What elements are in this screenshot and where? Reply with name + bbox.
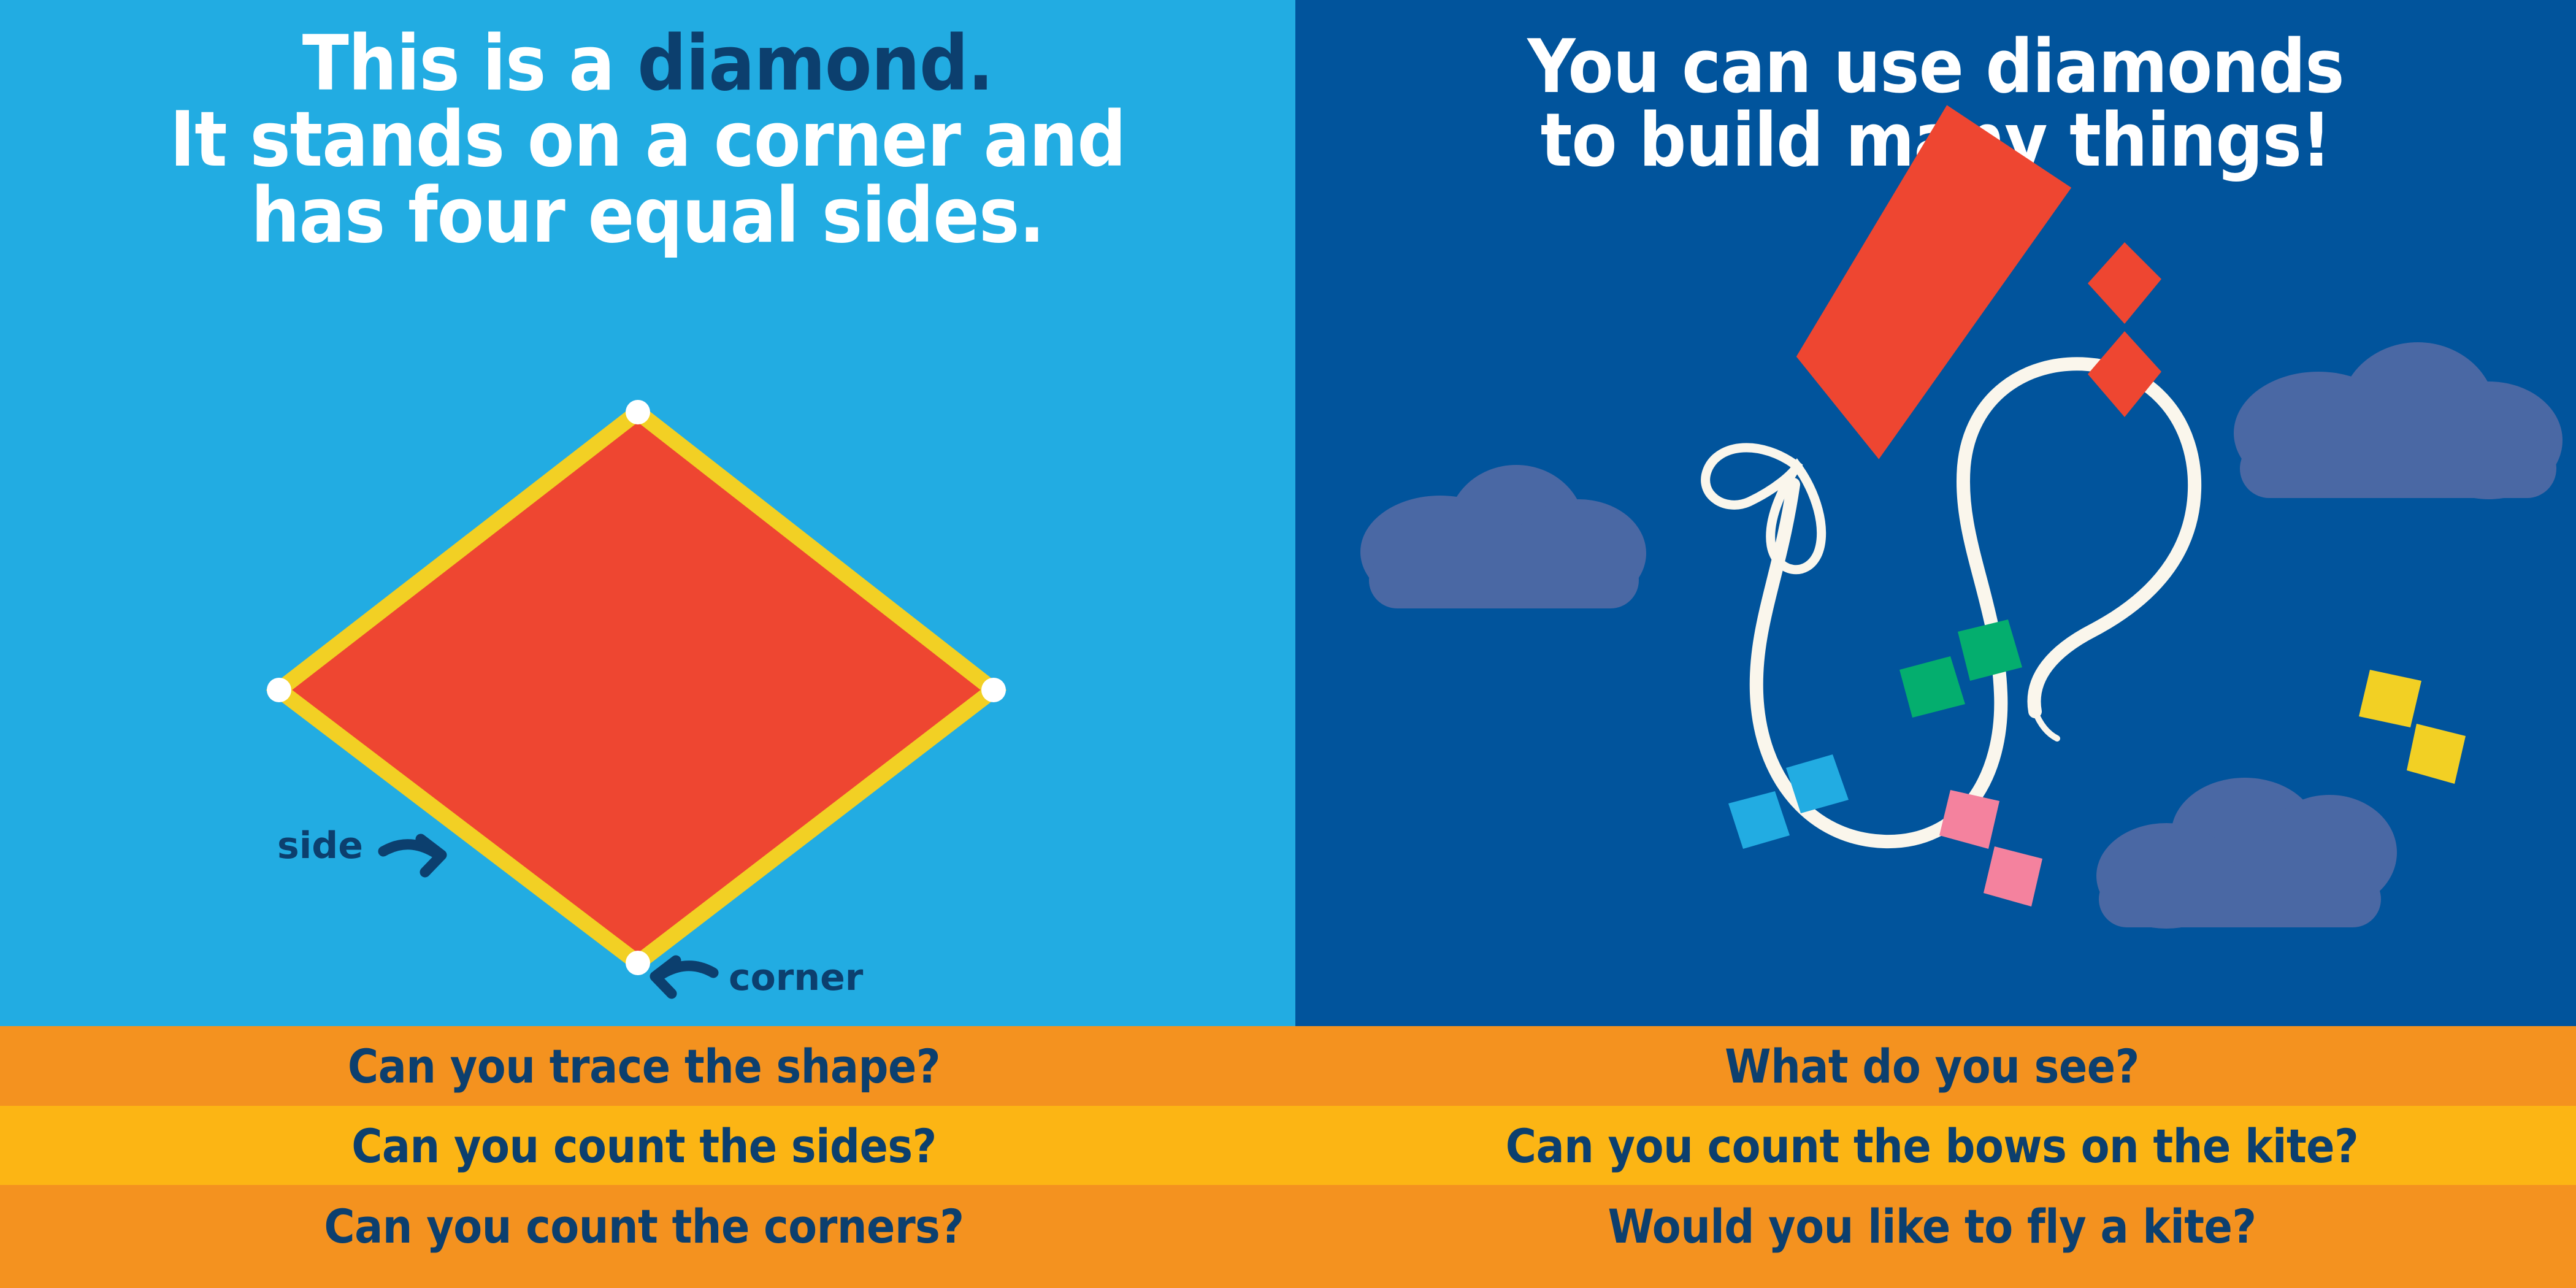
question-bar-row-1: Can you trace the shape? What do you see… <box>0 1026 2576 1106</box>
shape-spread-page: This is a diamond.It stands on a corner … <box>0 0 2576 1288</box>
kite-string-tip <box>2035 711 2057 738</box>
question-left-2: Can you count the sides? <box>0 1106 1288 1186</box>
corner-label: corner <box>729 956 864 999</box>
corner-dot-right <box>981 678 1006 702</box>
diamond-shape <box>279 412 994 963</box>
left-panel: This is a diamond.It stands on a corner … <box>0 0 1295 1026</box>
corner-dot-top <box>626 400 650 424</box>
corner-dot-left <box>267 678 291 702</box>
question-bars: Can you trace the shape? What do you see… <box>0 1026 2576 1288</box>
bow-yellow <box>2359 670 2466 784</box>
cloud-left-icon <box>1360 465 1646 608</box>
question-bar-row-2: Can you count the sides? Can you count t… <box>0 1106 2576 1185</box>
cloud-bottom-right-icon <box>2096 778 2397 929</box>
question-bar-row-3: Can you count the corners? Would you lik… <box>0 1185 2576 1288</box>
cloud-top-right-icon <box>2234 342 2563 499</box>
question-left-3: Can you count the corners? <box>0 1185 1288 1268</box>
question-left-1: Can you trace the shape? <box>0 1026 1288 1106</box>
diamond-diagram: side corner <box>0 0 1295 1026</box>
side-label: side <box>277 824 363 867</box>
question-right-2: Can you count the bows on the kite? <box>1288 1106 2576 1186</box>
bow-pink <box>1939 790 2042 907</box>
corner-dot-bottom <box>626 951 650 975</box>
right-panel: You can use diamondsto build many things… <box>1295 0 2576 1026</box>
question-right-1: What do you see? <box>1288 1026 2576 1106</box>
question-right-3: Would you like to fly a kite? <box>1288 1185 2576 1268</box>
kite-scene <box>1295 0 2576 1026</box>
kite-body <box>1796 105 2071 459</box>
